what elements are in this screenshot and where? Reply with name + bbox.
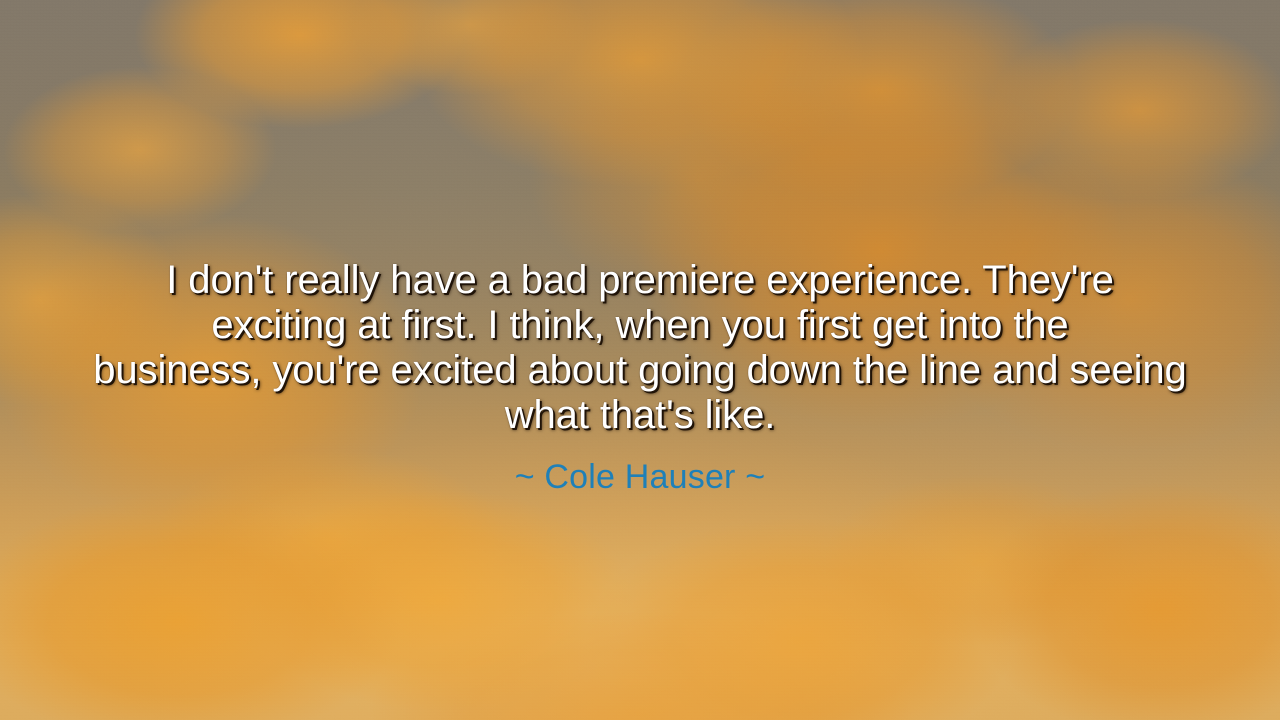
quote-text: I don't really have a bad premiere exper… (40, 258, 1240, 438)
quote-author-attribution: ~ Cole Hauser ~ (40, 438, 1240, 497)
quote-content-block: I don't really have a bad premiere exper… (0, 258, 1280, 497)
quote-card: I don't really have a bad premiere exper… (0, 0, 1280, 720)
